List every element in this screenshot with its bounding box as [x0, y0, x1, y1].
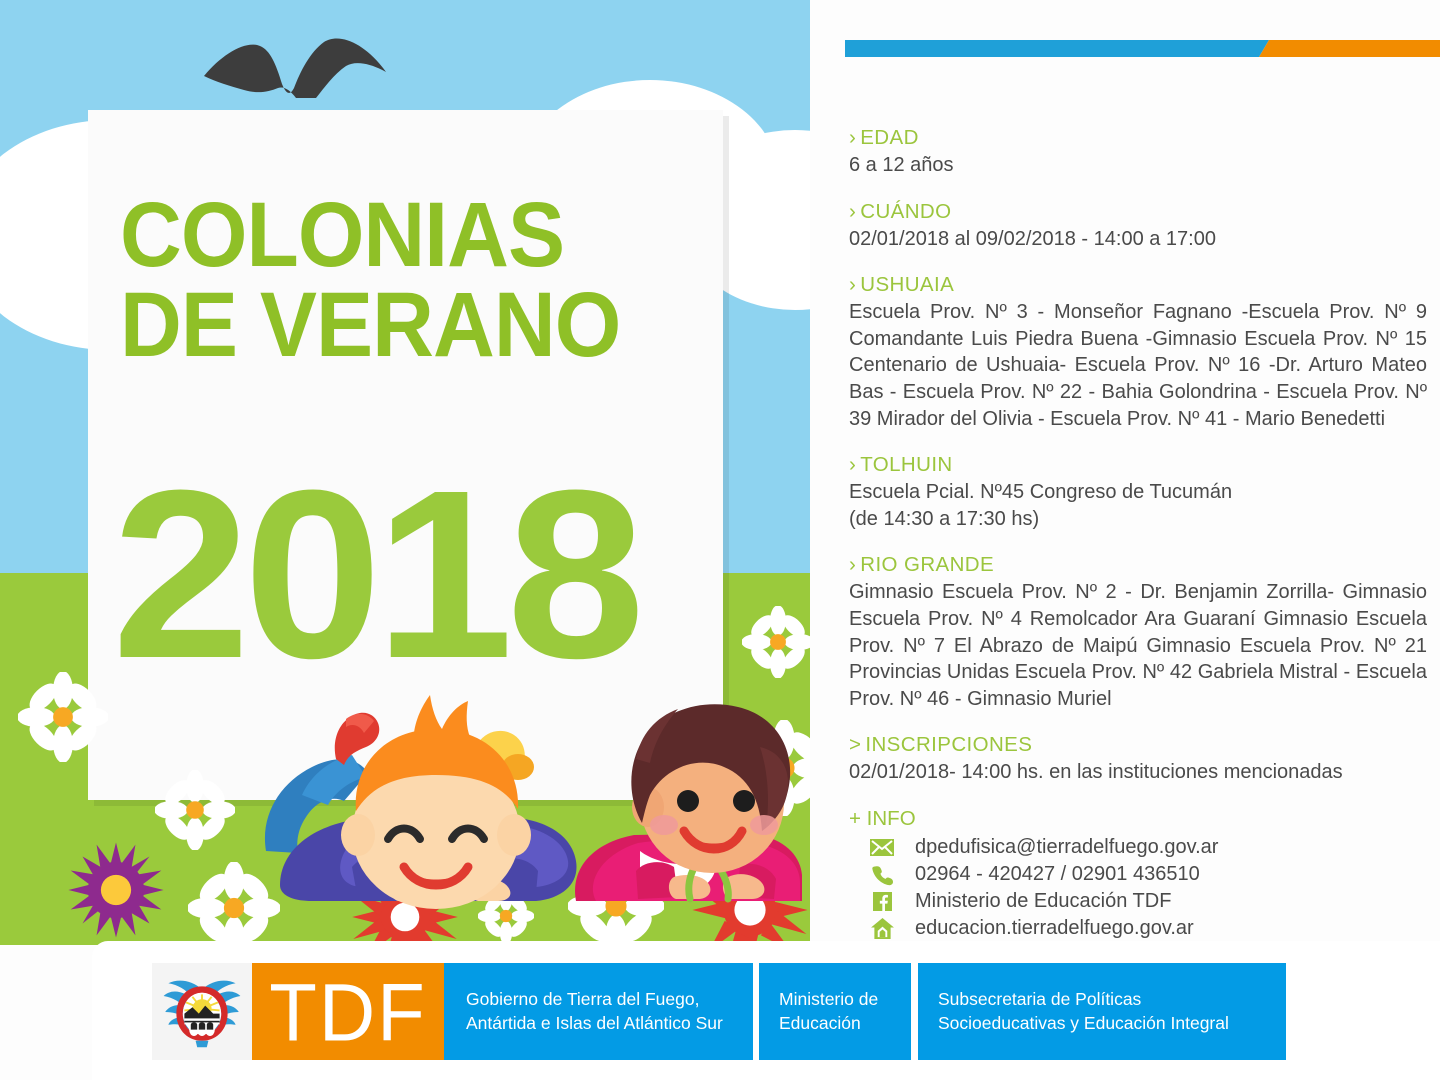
info-website-text: educacion.tierradelfuego.gov.ar: [915, 917, 1194, 940]
info-row-email[interactable]: dpedufisica@tierradelfuego.gov.ar: [867, 835, 1427, 861]
footer-bar: TDF Gobierno de Tierra del Fuego, Antárt…: [152, 963, 1286, 1060]
section-heading-text: EDAD: [860, 126, 919, 149]
children-illustration: [240, 655, 810, 945]
ministry-line-1: Ministerio de: [779, 988, 878, 1011]
tdf-logo: TDF: [252, 963, 444, 1060]
section-ushuaia: ›USHUAIA Escuela Prov. Nº 3 - Monseñor F…: [849, 273, 1427, 432]
government-text: Gobierno de Tierra del Fuego, Antártida …: [466, 988, 723, 1035]
government-line-2: Antártida e Islas del Atlántico Sur: [466, 1012, 723, 1035]
info-row-facebook[interactable]: Ministerio de Educación TDF: [867, 889, 1427, 915]
info-list: dpedufisica@tierradelfuego.gov.ar 02964 …: [867, 835, 1427, 942]
chevron-right-icon: ›: [849, 200, 856, 223]
section-info: + INFO dpedufisica@tierradelfuego.gov.ar: [849, 807, 1427, 942]
header-accent-bar: [845, 40, 1440, 57]
chevron-right-icon: ›: [849, 273, 856, 296]
ministry-text: Ministerio de Educación: [779, 988, 878, 1035]
section-heading-text: USHUAIA: [860, 273, 954, 296]
section-heading-edad: ›EDAD: [849, 126, 1427, 150]
page-title: COLONIAS DE VERANO: [120, 190, 697, 370]
poster-root: COLONIAS DE VERANO 2018: [0, 0, 1440, 1080]
home-icon: [867, 918, 897, 940]
chevron-right-icon: ›: [849, 453, 856, 476]
section-heading-text: TOLHUIN: [860, 453, 952, 476]
title-line-2: DE VERANO: [120, 280, 697, 370]
info-email-text: dpedufisica@tierradelfuego.gov.ar: [915, 836, 1218, 859]
section-body-cuando: 02/01/2018 al 09/02/2018 - 14:00 a 17:00: [849, 226, 1427, 253]
section-body-tolhuin: Escuela Pcial. Nº45 Congreso de Tucumán …: [849, 479, 1427, 532]
government-block: Gobierno de Tierra del Fuego, Antártida …: [444, 963, 753, 1060]
subsecretary-block: Subsecretaria de Políticas Socioeducativ…: [918, 963, 1286, 1060]
section-heading-text: INSCRIPCIONES: [865, 733, 1032, 756]
section-heading-rio-grande: ›RIO GRANDE: [849, 553, 1427, 577]
chevron-right-icon: ›: [849, 126, 856, 149]
info-facebook-text: Ministerio de Educación TDF: [915, 890, 1171, 913]
phone-icon: [867, 864, 897, 886]
ministry-block: Ministerio de Educación: [759, 963, 911, 1060]
section-heading-cuando: ›CUÁNDO: [849, 200, 1427, 224]
section-inscripciones: >INSCRIPCIONES 02/01/2018- 14:00 hs. en …: [849, 733, 1427, 786]
daisy-flower-icon: [18, 672, 108, 762]
section-heading-text: CUÁNDO: [860, 200, 951, 223]
chevron-right-icon: >: [849, 733, 861, 756]
bird-icon: [200, 28, 400, 98]
tdf-coat-of-arms-icon: [152, 963, 252, 1060]
chevron-right-icon: ›: [849, 553, 856, 576]
title-line-1: COLONIAS: [120, 190, 697, 280]
illustration-panel: COLONIAS DE VERANO 2018: [0, 0, 810, 945]
section-tolhuin: ›TOLHUIN Escuela Pcial. Nº45 Congreso de…: [849, 453, 1427, 532]
section-heading-inscripciones: >INSCRIPCIONES: [849, 733, 1427, 757]
info-heading: + INFO: [849, 807, 1427, 831]
section-heading-ushuaia: ›USHUAIA: [849, 273, 1427, 297]
section-heading-text: RIO GRANDE: [860, 553, 994, 576]
section-edad: ›EDAD 6 a 12 años: [849, 126, 1427, 179]
info-phone-text: 02964 - 420427 / 02901 436510: [915, 863, 1200, 886]
info-column: ›EDAD 6 a 12 años ›CUÁNDO 02/01/2018 al …: [849, 126, 1427, 943]
subsecretary-line-1: Subsecretaria de Políticas: [938, 988, 1229, 1011]
section-body-rio-grande: Gimnasio Escuela Prov. Nº 2 - Dr. Benjam…: [849, 579, 1427, 712]
section-rio-grande: ›RIO GRANDE Gimnasio Escuela Prov. Nº 2 …: [849, 553, 1427, 712]
section-body-ushuaia: Escuela Prov. Nº 3 - Monseñor Fagnano -E…: [849, 299, 1427, 432]
section-body-inscripciones: 02/01/2018- 14:00 hs. en las institucion…: [849, 759, 1427, 786]
ministry-line-2: Educación: [779, 1012, 878, 1035]
purple-star-flower-icon: [62, 836, 170, 944]
facebook-icon: [867, 891, 897, 913]
section-body-edad: 6 a 12 años: [849, 152, 1427, 179]
section-cuando: ›CUÁNDO 02/01/2018 al 09/02/2018 - 14:00…: [849, 200, 1427, 253]
mail-icon: [867, 837, 897, 859]
info-row-website[interactable]: educacion.tierradelfuego.gov.ar: [867, 916, 1427, 942]
subsecretary-line-2: Socioeducativas y Educación Integral: [938, 1012, 1229, 1035]
info-row-phone[interactable]: 02964 - 420427 / 02901 436510: [867, 862, 1427, 888]
government-line-1: Gobierno de Tierra del Fuego,: [466, 988, 723, 1011]
tdf-acronym: TDF: [269, 971, 427, 1053]
section-heading-tolhuin: ›TOLHUIN: [849, 453, 1427, 477]
subsecretary-text: Subsecretaria de Políticas Socioeducativ…: [938, 988, 1229, 1035]
